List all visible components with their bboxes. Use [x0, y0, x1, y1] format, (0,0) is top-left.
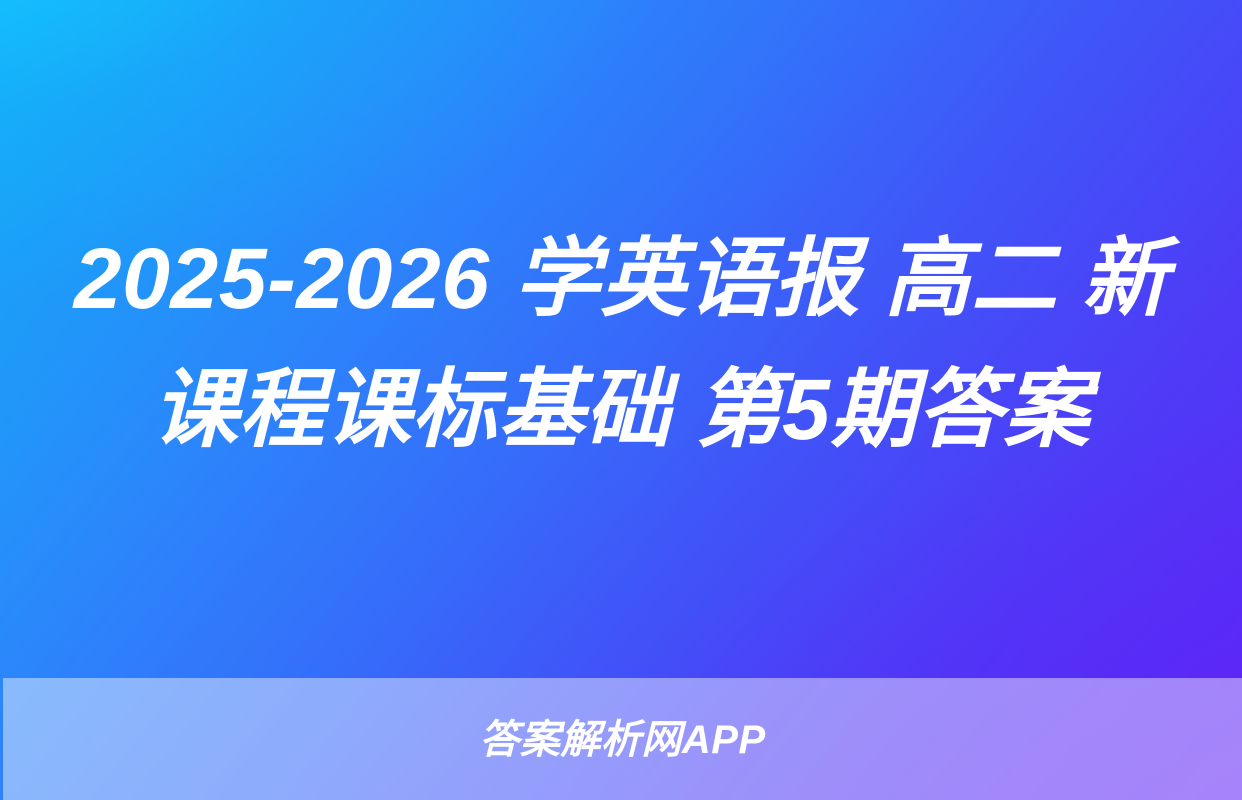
headline-container: 2025-2026 学英语报 高二 新课程课标基础 第5期答案 — [0, 0, 1242, 678]
watermark-band: 答案解析网APP — [3, 678, 1242, 800]
poster-canvas: 2025-2026 学英语报 高二 新课程课标基础 第5期答案 答案解析网APP — [0, 0, 1242, 800]
app-watermark-label: 答案解析网APP — [479, 720, 765, 760]
page-title: 2025-2026 学英语报 高二 新课程课标基础 第5期答案 — [56, 214, 1186, 475]
